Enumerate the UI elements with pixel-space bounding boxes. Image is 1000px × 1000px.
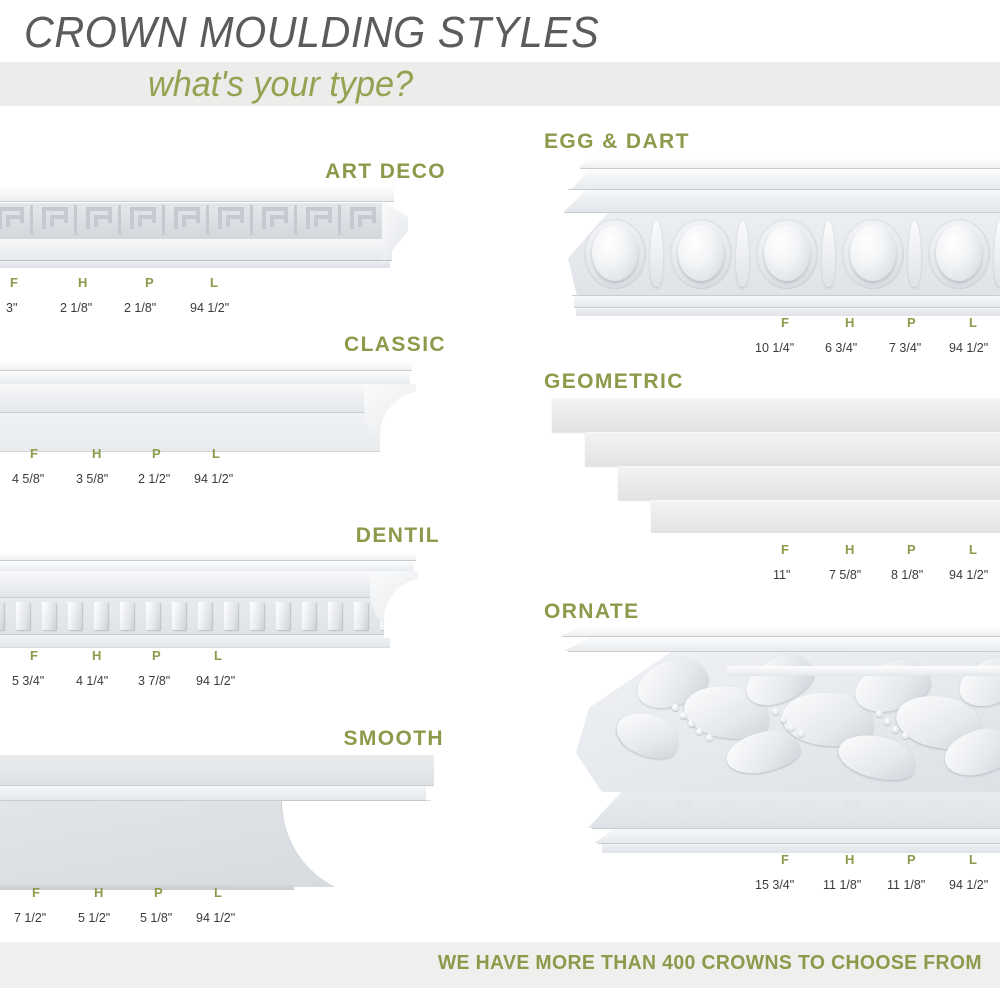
dim-value-h: 6 3/4" xyxy=(825,341,857,355)
moulding-illustration-ornate xyxy=(546,626,1000,876)
dim-value-f: 4 5/8" xyxy=(12,472,44,486)
dim-header-p: P xyxy=(907,315,916,330)
dim-header-h: H xyxy=(845,315,854,330)
style-title-geometric: GEOMETRIC xyxy=(544,370,684,394)
moulding-illustration-art-deco xyxy=(0,188,414,280)
dim-value-l: 94 1/2" xyxy=(196,911,235,925)
dim-header-l: L xyxy=(210,275,218,290)
dim-header-p: P xyxy=(907,542,916,557)
moulding-illustration-smooth xyxy=(0,755,434,895)
dim-header-p: P xyxy=(152,446,161,461)
dim-header-p: P xyxy=(154,885,163,900)
dimensions-smooth: F H P L 7 1/2" 5 1/2" 5 1/8" 94 1/2" xyxy=(0,885,300,931)
dimensions-classic: F H P L 4 5/8" 3 5/8" 2 1/2" 94 1/2" xyxy=(0,446,300,492)
dim-header-l: L xyxy=(212,446,220,461)
dimensions-geometric: F H P L 11" 7 5/8" 8 1/8" 94 1/2" xyxy=(755,542,1000,588)
dimension-value-row: 3" 2 1/8" 2 1/8" 94 1/2" xyxy=(0,301,300,321)
dim-value-p: 2 1/2" xyxy=(138,472,170,486)
dimension-value-row: 7 1/2" 5 1/2" 5 1/8" 94 1/2" xyxy=(0,911,300,931)
dim-header-p: P xyxy=(907,852,916,867)
dimension-header-row: F H P L xyxy=(0,885,300,905)
style-section-egg-dart: EGG & DART xyxy=(540,130,1000,360)
dim-header-h: H xyxy=(92,446,101,461)
dim-value-l: 94 1/2" xyxy=(196,674,235,688)
dim-header-l: L xyxy=(214,885,222,900)
dimension-value-row: 11" 7 5/8" 8 1/8" 94 1/2" xyxy=(755,568,1000,588)
dim-value-h: 5 1/2" xyxy=(78,911,110,925)
dimensions-art-deco: F H P L 3" 2 1/8" 2 1/8" 94 1/2" xyxy=(0,275,300,321)
dimension-value-row: 10 1/4" 6 3/4" 7 3/4" 94 1/2" xyxy=(755,341,1000,361)
dim-header-f: F xyxy=(32,885,40,900)
dim-header-f: F xyxy=(30,446,38,461)
dimension-header-row: F H P L xyxy=(0,275,300,295)
dimensions-ornate: F H P L 15 3/4" 11 1/8" 11 1/8" 94 1/2" xyxy=(755,852,1000,898)
dim-value-p: 3 7/8" xyxy=(138,674,170,688)
style-title-art-deco: ART DECO xyxy=(0,160,446,184)
moulding-illustration-geometric xyxy=(544,398,1000,533)
dim-header-h: H xyxy=(78,275,87,290)
page-title: CROWN MOULDING STYLES xyxy=(24,8,682,58)
dim-value-f: 15 3/4" xyxy=(755,878,794,892)
dimension-header-row: F H P L xyxy=(0,446,300,466)
dim-value-f: 7 1/2" xyxy=(14,911,46,925)
style-title-classic: CLASSIC xyxy=(0,333,446,357)
dim-value-h: 7 5/8" xyxy=(829,568,861,582)
style-section-art-deco: ART DECO xyxy=(0,160,460,305)
dim-value-l: 94 1/2" xyxy=(194,472,233,486)
dim-header-f: F xyxy=(781,852,789,867)
dim-header-h: H xyxy=(92,648,101,663)
dimension-header-row: F H P L xyxy=(0,648,300,668)
dim-header-f: F xyxy=(781,315,789,330)
dimension-header-row: F H P L xyxy=(755,315,1000,335)
dim-header-f: F xyxy=(10,275,18,290)
moulding-illustration-egg-dart xyxy=(550,158,1000,323)
dim-header-l: L xyxy=(969,542,977,557)
style-title-egg-dart: EGG & DART xyxy=(544,130,690,154)
footer-tagline: WE HAVE MORE THAN 400 CROWNS TO CHOOSE F… xyxy=(438,952,982,975)
dimensions-dentil: F H P L 5 3/4" 4 1/4" 3 7/8" 94 1/2" xyxy=(0,648,300,694)
infographic-page: CROWN MOULDING STYLES what's your type? … xyxy=(0,0,1000,1000)
page-subtitle: what's your type? xyxy=(148,63,813,105)
dim-header-f: F xyxy=(30,648,38,663)
dimension-header-row: F H P L xyxy=(755,542,1000,562)
dim-header-p: P xyxy=(152,648,161,663)
style-title-ornate: ORNATE xyxy=(544,600,640,624)
dim-value-h: 2 1/8" xyxy=(60,301,92,315)
dim-header-l: L xyxy=(969,315,977,330)
dimension-value-row: 5 3/4" 4 1/4" 3 7/8" 94 1/2" xyxy=(0,674,300,694)
dim-header-h: H xyxy=(94,885,103,900)
dim-value-p: 2 1/8" xyxy=(124,301,156,315)
style-section-geometric: GEOMETRIC F H P L 11" 7 5/8" 8 1/8" 94 1… xyxy=(540,370,1000,590)
dim-header-h: H xyxy=(845,542,854,557)
moulding-illustration-dentil xyxy=(0,552,424,662)
dim-header-l: L xyxy=(969,852,977,867)
dim-value-l: 94 1/2" xyxy=(949,341,988,355)
dim-value-p: 11 1/8" xyxy=(887,878,925,892)
style-title-smooth: SMOOTH xyxy=(0,727,444,751)
dim-header-p: P xyxy=(145,275,154,290)
dim-value-h: 4 1/4" xyxy=(76,674,108,688)
dim-header-l: L xyxy=(214,648,222,663)
style-title-dentil: DENTIL xyxy=(0,524,440,548)
dim-value-f: 3" xyxy=(6,301,17,315)
dimension-value-row: 15 3/4" 11 1/8" 11 1/8" 94 1/2" xyxy=(755,878,1000,898)
dim-header-h: H xyxy=(845,852,854,867)
dimension-value-row: 4 5/8" 3 5/8" 2 1/2" 94 1/2" xyxy=(0,472,300,492)
dimension-header-row: F H P L xyxy=(755,852,1000,872)
dim-value-f: 11" xyxy=(773,568,790,582)
style-section-classic: CLASSIC F H P L 4 5/8" 3 5/8" 2 1/2" xyxy=(0,333,460,483)
dim-value-h: 3 5/8" xyxy=(76,472,108,486)
style-section-ornate: ORNATE xyxy=(540,600,1000,900)
dim-value-f: 10 1/4" xyxy=(755,341,794,355)
dim-value-l: 94 1/2" xyxy=(949,568,988,582)
dim-value-l: 94 1/2" xyxy=(190,301,229,315)
dim-value-l: 94 1/2" xyxy=(949,878,988,892)
dim-value-p: 8 1/8" xyxy=(891,568,923,582)
dim-value-p: 5 1/8" xyxy=(140,911,172,925)
dim-value-f: 5 3/4" xyxy=(12,674,44,688)
style-section-dentil: DENTIL xyxy=(0,524,460,684)
style-section-smooth: SMOOTH F H P L 7 1/2" 5 1/2" 5 1/8" 94 1… xyxy=(0,727,460,922)
dim-value-p: 7 3/4" xyxy=(889,341,921,355)
dim-header-f: F xyxy=(781,542,789,557)
dim-value-h: 11 1/8" xyxy=(823,878,861,892)
dimensions-egg-dart: F H P L 10 1/4" 6 3/4" 7 3/4" 94 1/2" xyxy=(755,315,1000,361)
